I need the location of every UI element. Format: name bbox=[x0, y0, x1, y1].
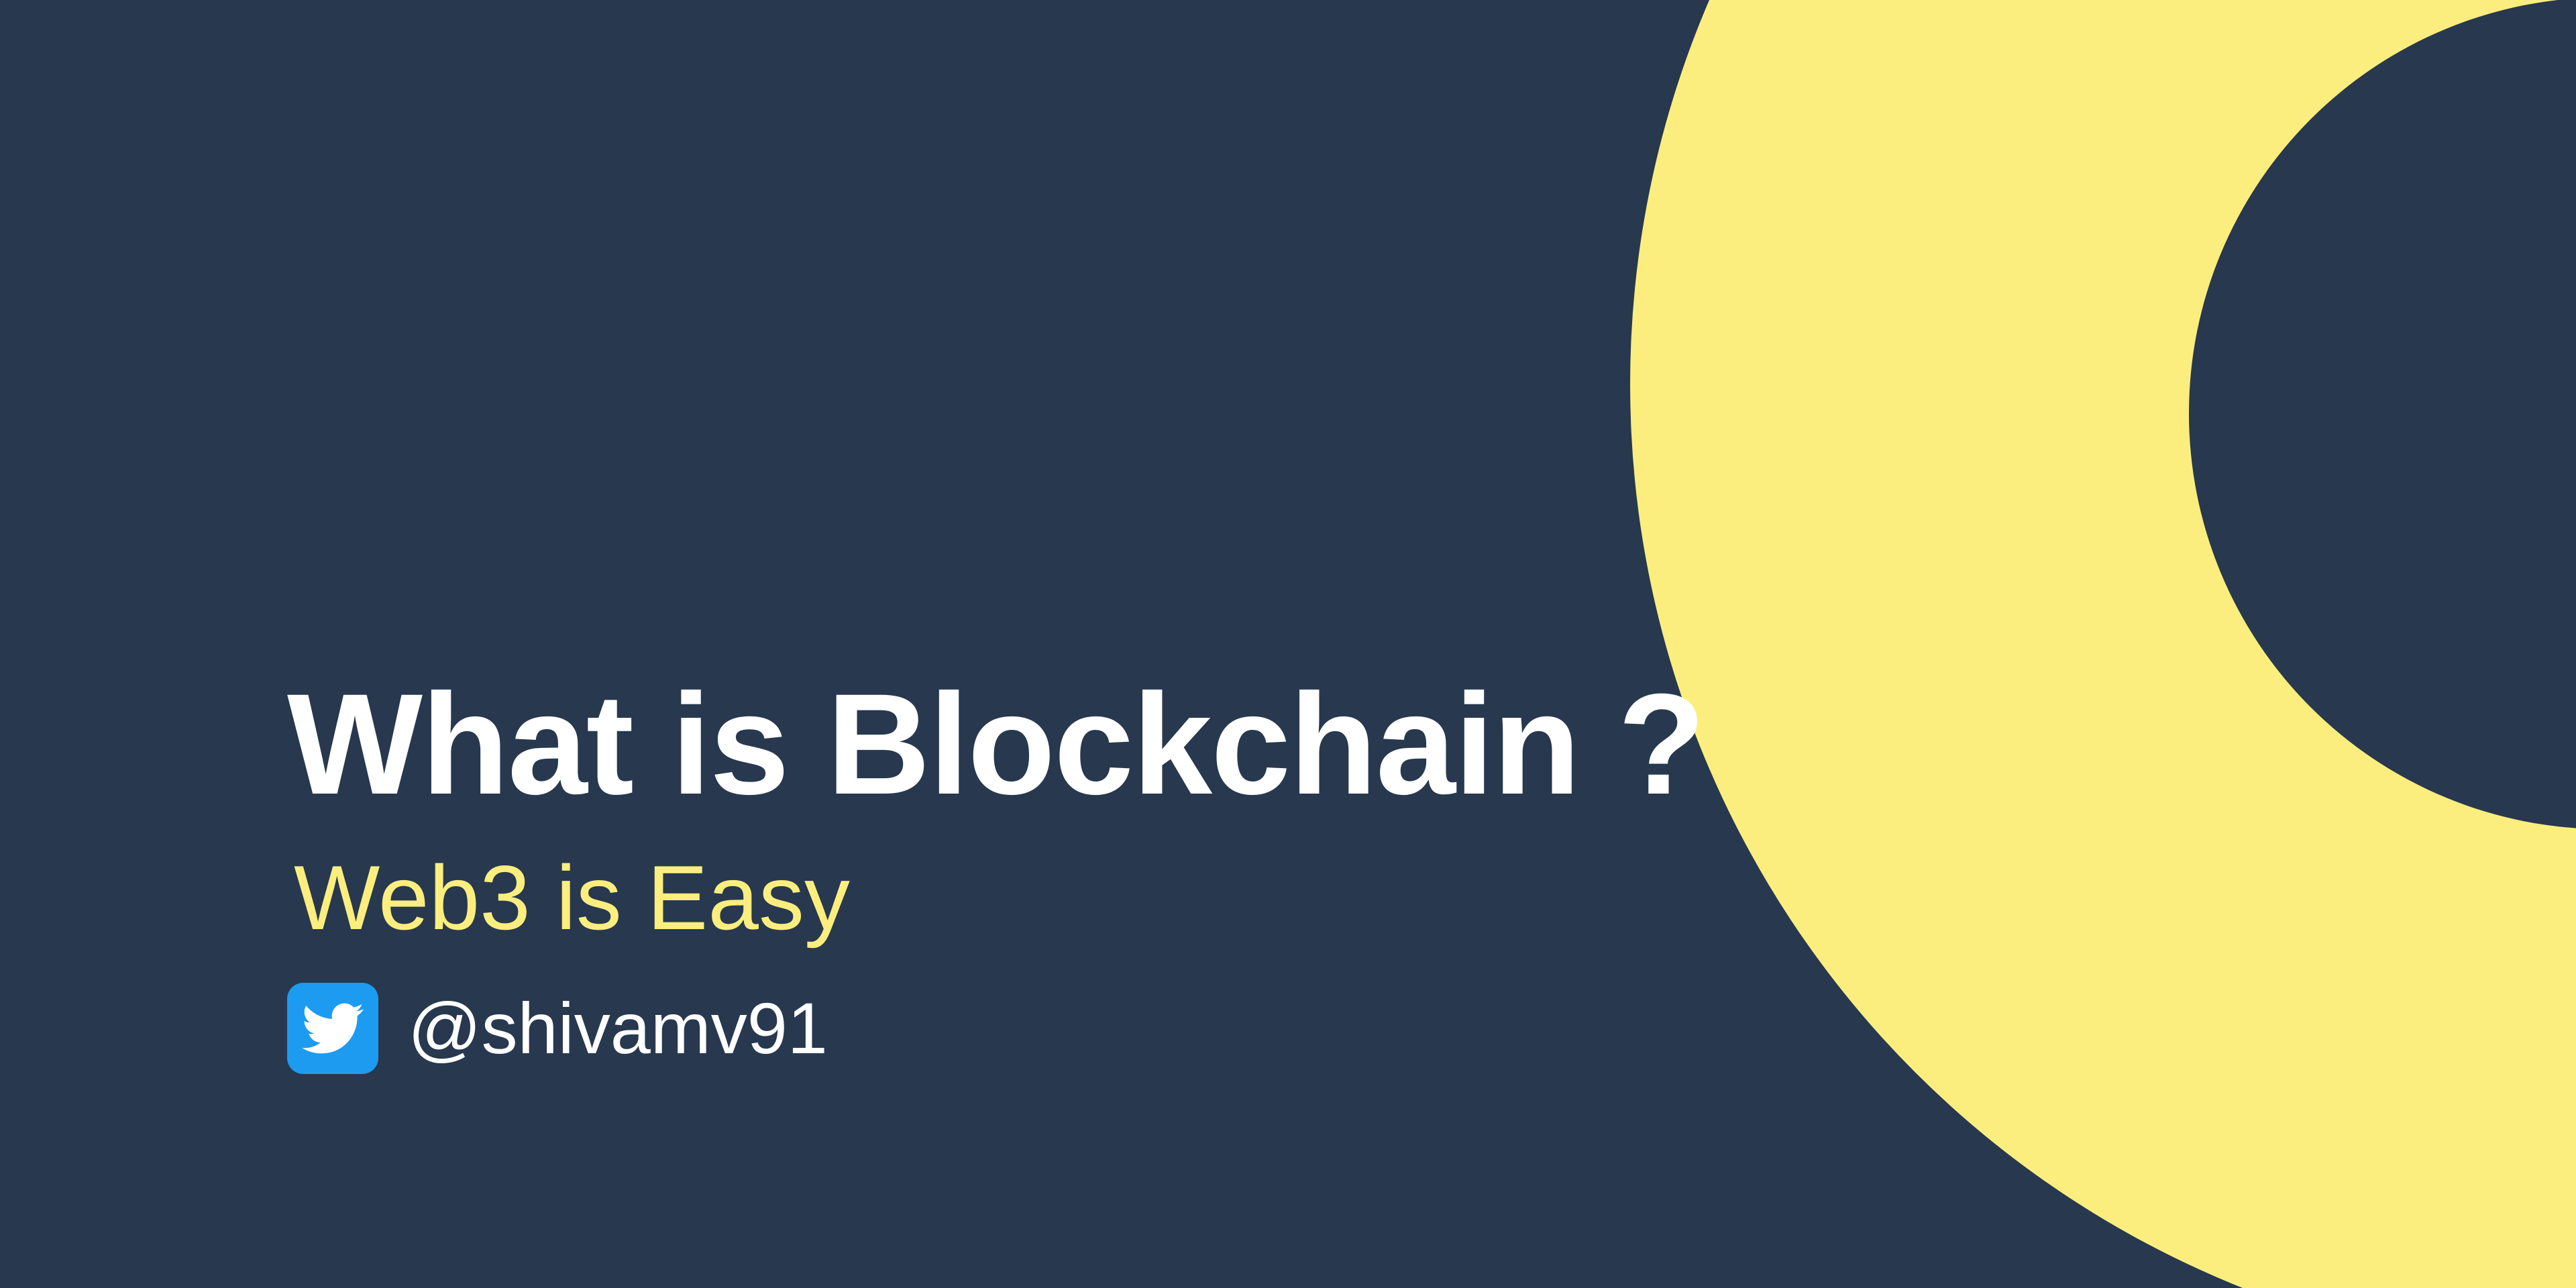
decorative-donut-graphic bbox=[0, 0, 2576, 1288]
navy-inner-circle-cutout bbox=[2189, 0, 2576, 829]
slide-text-block: What is Blockchain ? Web3 is Easy @shiva… bbox=[287, 671, 1629, 1074]
yellow-outer-circle bbox=[1630, 0, 2576, 1288]
page-subtitle: Web3 is Easy bbox=[294, 844, 1629, 951]
author-handle-row: @shivamv91 bbox=[287, 983, 1629, 1074]
slide-canvas: What is Blockchain ? Web3 is Easy @shiva… bbox=[0, 0, 2576, 1288]
author-handle-label[interactable]: @shivamv91 bbox=[408, 986, 828, 1070]
page-title: What is Blockchain ? bbox=[287, 671, 1629, 818]
twitter-bird-icon[interactable] bbox=[287, 983, 378, 1074]
